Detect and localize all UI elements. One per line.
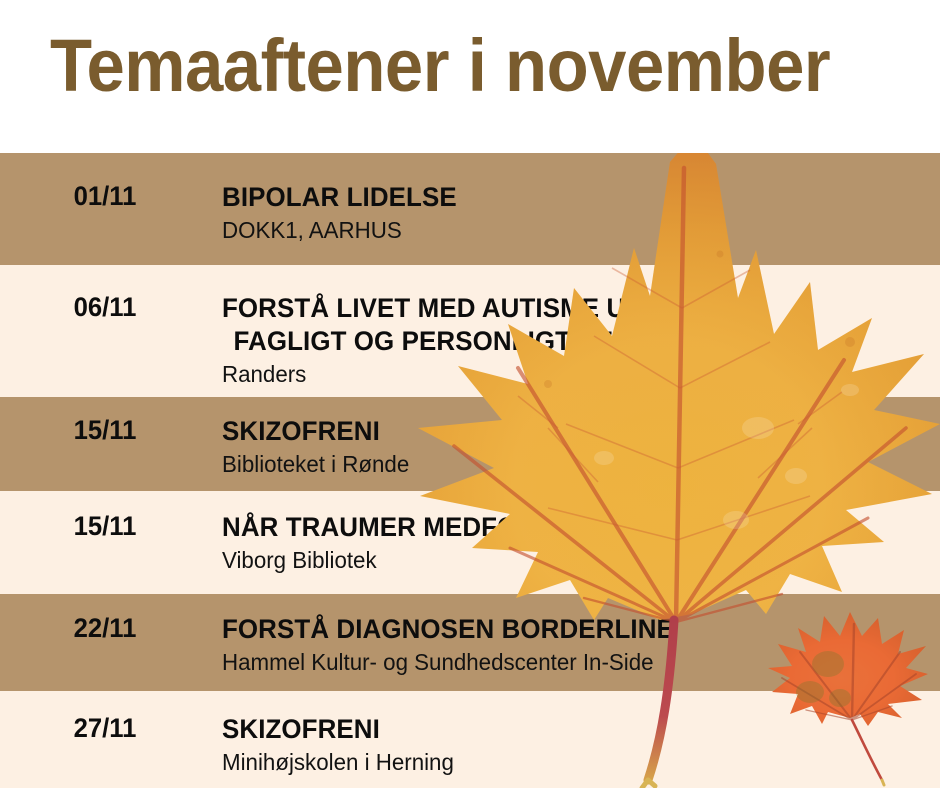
event-title-line2: FAGLIGT OG PERSONLIGT PERSPEKTIV [222, 325, 902, 358]
event-venue: Randers [222, 361, 909, 389]
event-date: 01/11 [5, 181, 205, 212]
list-item[interactable]: 06/11 FORSTÅ LIVET MED AUTISME UD FRA ET… [0, 265, 940, 397]
event-date: 06/11 [5, 292, 205, 323]
event-text-block: FORSTÅ DIAGNOSEN BORDERLINE Hammel Kultu… [222, 613, 930, 677]
event-text-block: NÅR TRAUMER MEDFØRER PTSD Viborg Bibliot… [222, 511, 930, 575]
event-text-block: FORSTÅ LIVET MED AUTISME UD FRA ET FAGLI… [222, 292, 930, 388]
event-title: SKIZOFRENI [222, 415, 902, 448]
event-title: BIPOLAR LIDELSE [222, 181, 902, 214]
event-title: SKIZOFRENI [222, 713, 902, 746]
event-venue: Hammel Kultur- og Sundhedscenter In-Side [222, 649, 909, 677]
event-title-line1: FORSTÅ LIVET MED AUTISME UD FRA ET [222, 292, 902, 325]
event-title: NÅR TRAUMER MEDFØRER PTSD [222, 511, 902, 544]
list-item[interactable]: 27/11 SKIZOFRENI Minihøjskolen i Herning [0, 691, 940, 788]
list-item[interactable]: 01/11 BIPOLAR LIDELSE DOKK1, AARHUS [0, 153, 940, 265]
list-item[interactable]: 15/11 SKIZOFRENI Biblioteket i Rønde [0, 397, 940, 491]
page-title: Temaaftener i november [50, 26, 830, 106]
poster-header: Temaaftener i november [0, 0, 940, 153]
event-date: 22/11 [5, 613, 205, 644]
list-item[interactable]: 22/11 FORSTÅ DIAGNOSEN BORDERLINE Hammel… [0, 594, 940, 691]
event-text-block: SKIZOFRENI Minihøjskolen i Herning [222, 713, 930, 777]
poster-canvas: Temaaftener i november [0, 0, 940, 788]
event-date: 15/11 [5, 511, 205, 542]
event-venue: DOKK1, AARHUS [222, 217, 909, 245]
event-text-block: SKIZOFRENI Biblioteket i Rønde [222, 415, 930, 479]
event-title: FORSTÅ DIAGNOSEN BORDERLINE [222, 613, 902, 646]
event-venue: Viborg Bibliotek [222, 547, 909, 575]
event-venue: Biblioteket i Rønde [222, 451, 909, 479]
list-item[interactable]: 15/11 NÅR TRAUMER MEDFØRER PTSD Viborg B… [0, 491, 940, 594]
event-text-block: BIPOLAR LIDELSE DOKK1, AARHUS [222, 181, 930, 245]
event-date: 27/11 [5, 713, 205, 744]
event-date: 15/11 [5, 415, 205, 446]
event-venue: Minihøjskolen i Herning [222, 749, 909, 777]
event-list: 01/11 BIPOLAR LIDELSE DOKK1, AARHUS 06/1… [0, 153, 940, 788]
